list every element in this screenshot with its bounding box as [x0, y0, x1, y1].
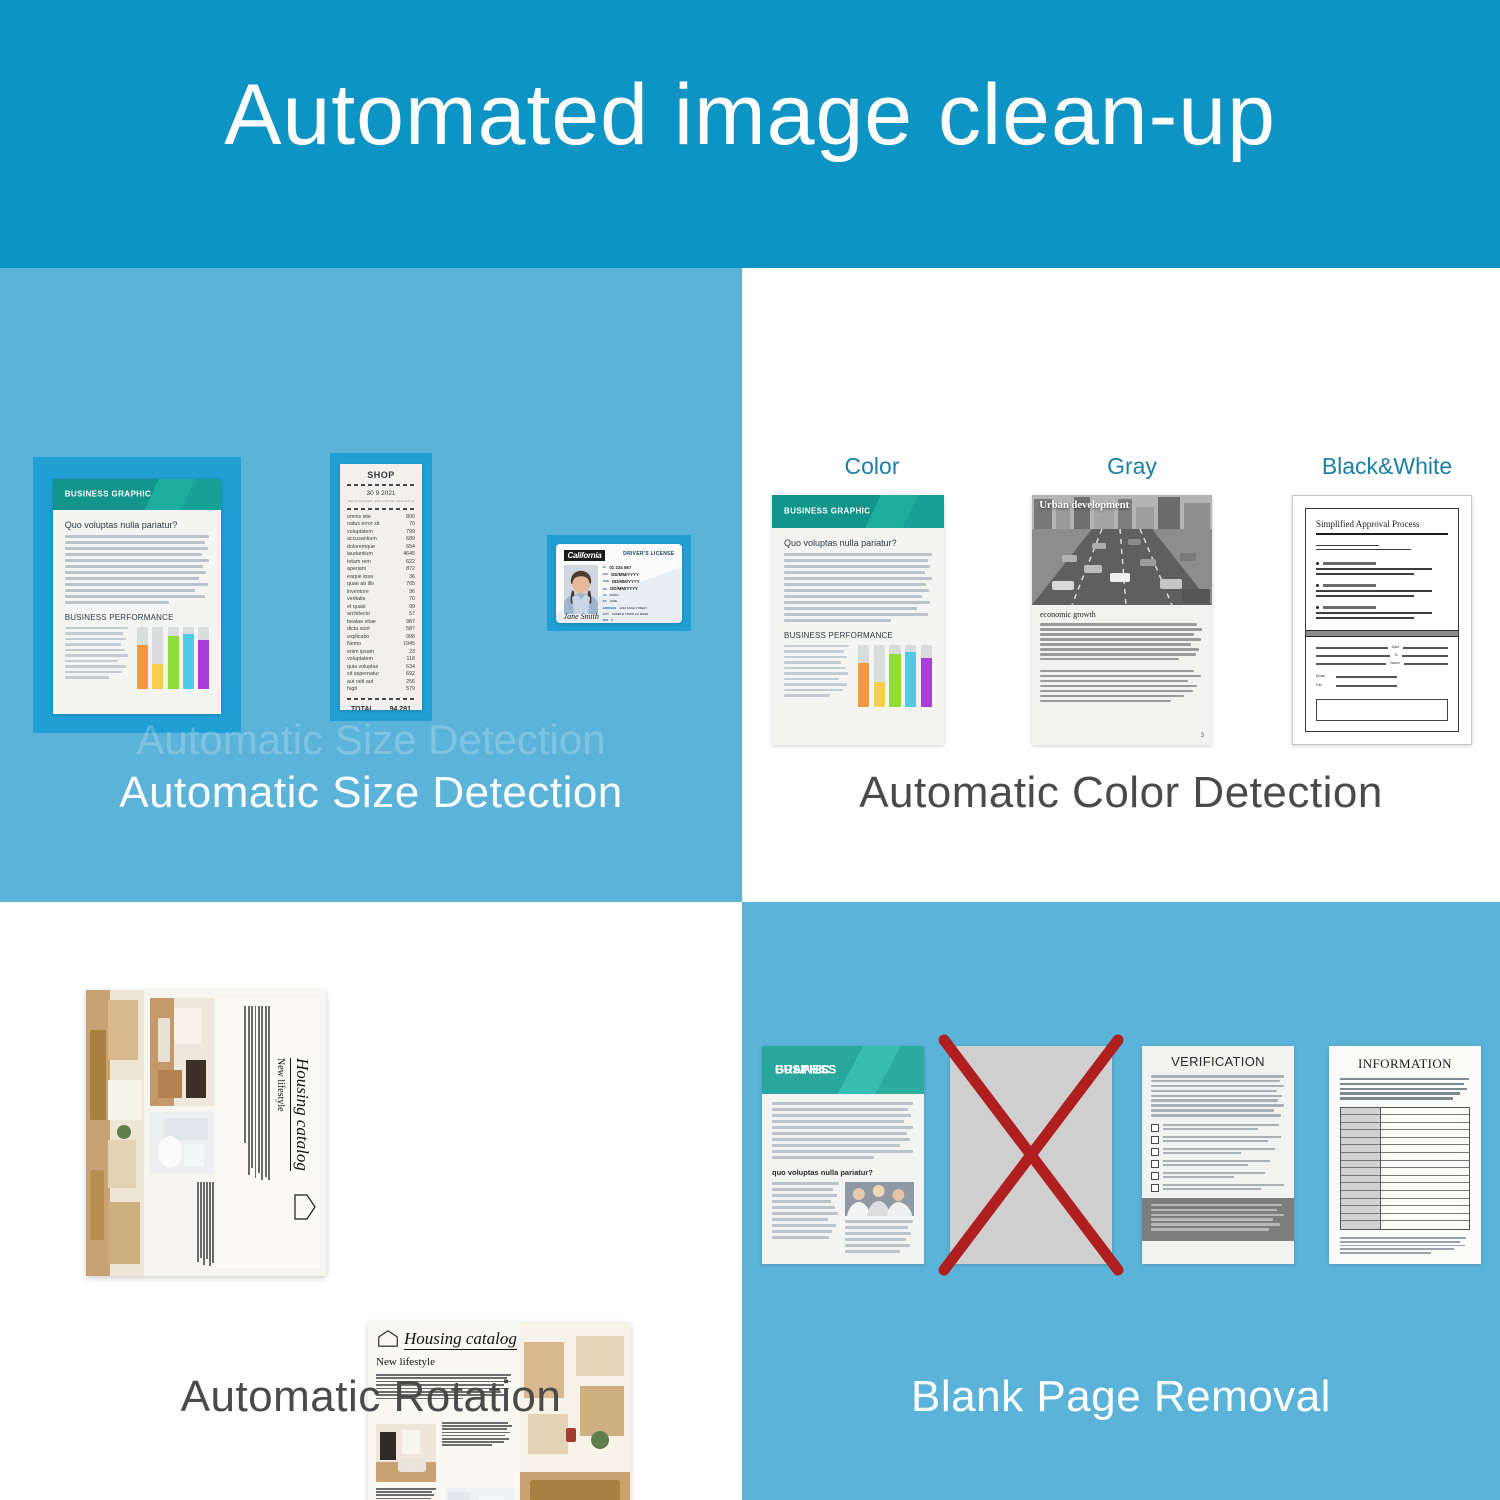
chart-bar — [183, 627, 194, 689]
verification-checkbox-label — [1163, 1124, 1285, 1132]
magazine-subtitle: New lifestyle — [376, 1356, 435, 1368]
receipt-item-name: beatae vitae — [347, 619, 376, 627]
business-graphic-header: BUSINESS GRAPHIC — [53, 479, 221, 510]
receipt-item-value: 692 — [406, 671, 415, 679]
chart-bar — [889, 645, 900, 707]
bullet-dot-icon — [1316, 562, 1319, 565]
receipt-item-name: inventore — [347, 589, 369, 597]
chart-bar — [858, 645, 869, 707]
information-footer — [1340, 1237, 1470, 1254]
bw-form-bullet-label — [1323, 584, 1376, 587]
verification-checkbox-row[interactable] — [1151, 1184, 1285, 1192]
verification-rule — [1163, 1140, 1268, 1142]
information-body — [1340, 1078, 1470, 1100]
receipt-item-name: aut odit aut — [347, 679, 373, 687]
license-field-key: CITY — [603, 612, 609, 616]
color-sample-header: BUSINESS GRAPHIC — [772, 495, 944, 528]
verification-checkbox-row[interactable] — [1151, 1172, 1285, 1180]
receipt-item-name: dicta sunt — [347, 626, 370, 634]
table-row — [1341, 1176, 1380, 1184]
receipt-divider — [347, 484, 415, 486]
receipt-item-name: architecto — [347, 611, 370, 619]
receipt-item-value: 23 — [409, 649, 415, 657]
bw-form-field-label: Date — [1392, 645, 1400, 649]
chart-bar — [152, 627, 163, 689]
magazine-title-rotated: Housing catalog — [290, 1058, 312, 1171]
bw-form-bullet-group — [1316, 606, 1448, 619]
receipt-items: omnis iste800natus error sit70voluptatem… — [347, 514, 415, 694]
receipt-item-value: 799 — [406, 529, 415, 537]
receipt-item-row: voluptatem118 — [347, 656, 415, 664]
receipt-item-value: 118 — [407, 656, 415, 664]
receipt-item-name: aperiam — [347, 566, 366, 574]
biz4-photo — [845, 1182, 914, 1216]
receipt-item-name: totam rem — [347, 559, 371, 567]
receipt-item-name: Nemo — [347, 641, 361, 649]
verification-rule — [1163, 1124, 1279, 1126]
table-row — [1341, 1206, 1380, 1214]
business-performance-section — [65, 627, 210, 689]
quadrant-blank-page-removal: BUSINESS GRAPHIC quo voluptas nulla pari… — [742, 902, 1500, 1500]
license-field-key: ISS — [603, 587, 608, 591]
verification-rule — [1163, 1148, 1275, 1150]
license-signature: Jane Smith — [564, 612, 599, 621]
table-row — [1381, 1183, 1469, 1191]
table-row — [1381, 1199, 1469, 1207]
document-blackwhite-sample: Simplified Approval Process DateToName E… — [1292, 495, 1472, 745]
business-performance-heading: BUSINESS PERFORMANCE — [65, 613, 210, 622]
bw-form-contact-row[interactable]: Fax — [1316, 683, 1448, 687]
receipt-item-value: 36 — [409, 574, 415, 582]
receipt-shop-name: SHOP — [347, 470, 415, 480]
receipt-item-value: 70 — [409, 521, 415, 529]
table-row — [1341, 1145, 1380, 1153]
chart-bar — [905, 645, 916, 707]
verification-checkbox-row[interactable] — [1151, 1148, 1285, 1156]
verification-checkbox-label — [1163, 1172, 1285, 1180]
information-table-col-right — [1381, 1108, 1469, 1230]
receipt-item-value: 256 — [406, 679, 415, 687]
table-row — [1341, 1183, 1380, 1191]
receipt-item-name: veritatis — [347, 596, 365, 604]
magazine-column-1 — [442, 1422, 514, 1448]
chart-bar — [874, 645, 885, 707]
gray-sample-photo: Urban development — [1032, 495, 1212, 605]
biz4-column-1 — [772, 1182, 839, 1256]
caption-color-detection: Automatic Color Detection — [742, 768, 1500, 818]
receipt-item-value: 96 — [409, 589, 415, 597]
bw-form-comment-box[interactable] — [1316, 699, 1448, 721]
receipt-total-row: TOTAL 94,281 — [347, 704, 415, 710]
chart-bar — [168, 627, 179, 689]
receipt-subtitle: Sed ut perspiciatis, unde omnis iste nat… — [347, 499, 415, 504]
license-field-row: EXPDD/MM/YYYY — [603, 572, 676, 577]
bw-form-bullet-group — [1316, 584, 1448, 597]
quadrant-rotation: Housing catalog New lifestyle — [0, 902, 742, 1500]
license-field-value: 1234 FAKE STREET — [619, 606, 647, 610]
receipt-item-name: natus error sit — [347, 521, 379, 529]
information-table — [1340, 1107, 1470, 1231]
receipt-item-row: quae ab illo765 — [347, 581, 415, 589]
table-row — [1381, 1214, 1469, 1222]
color-sample-perf — [784, 645, 932, 707]
license-field-key: ADDRESS — [603, 606, 617, 610]
quadrant-size-detection: BUSINESS GRAPHIC Quo voluptas nulla pari… — [0, 268, 742, 902]
biz4-body: quo voluptas nulla pariatur? — [762, 1094, 924, 1264]
bw-form-field-rule — [1403, 647, 1448, 649]
bw-form-rule — [1316, 612, 1432, 614]
bw-form-bullet-group — [1316, 562, 1448, 575]
bw-form-field-rule — [1404, 663, 1448, 665]
document-business-graphic-4: BUSINESS GRAPHIC quo voluptas nulla pari… — [762, 1046, 924, 1264]
house-icon — [294, 1194, 316, 1220]
header-banner: Automated image clean-up — [0, 0, 1500, 268]
table-row — [1341, 1221, 1380, 1229]
bw-form-field-rule — [1316, 655, 1390, 657]
receipt-item-name: quia voluptas — [347, 664, 378, 672]
receipt-item-name: voluptatem — [347, 529, 373, 537]
checkbox-icon[interactable] — [1151, 1184, 1159, 1192]
receipt-item-row: inventore96 — [347, 589, 415, 597]
license-field-value: JANE — [609, 599, 617, 603]
table-row — [1381, 1138, 1469, 1146]
table-row — [1341, 1115, 1380, 1123]
receipt-item-name: sit aspernatur — [347, 671, 379, 679]
checkbox-icon[interactable] — [1151, 1160, 1159, 1168]
receipt-item-value: 1945 — [403, 641, 415, 649]
license-type-label: DRIVER'S LICENSE — [623, 551, 674, 557]
bw-form-field-rule — [1316, 647, 1388, 649]
receipt-item-row: eaque ipsa36 — [347, 574, 415, 582]
chart-bar — [198, 627, 209, 689]
quadrant-color-detection: Color Gray Black&White BUSINESS GRAPHIC … — [742, 268, 1500, 902]
verification-body — [1151, 1075, 1285, 1117]
receipt-item-row: aperiam872 — [347, 566, 415, 574]
license-state-label: California — [564, 550, 606, 561]
biz4-column-2 — [845, 1182, 914, 1256]
license-field-row: LNSMITH — [603, 593, 676, 597]
receipt-item-value: 765 — [406, 581, 415, 589]
receipt-item-value: 872 — [406, 566, 415, 574]
verification-rule — [1163, 1128, 1258, 1130]
license-photo — [564, 565, 598, 614]
document-magazine-rotated: Housing catalog New lifestyle — [86, 990, 326, 1276]
color-sample-heading: Quo voluptas nulla pariatur? — [784, 538, 932, 548]
receipt-item-name: quae ab illo — [347, 581, 374, 589]
bw-form-contact-label: Fax — [1316, 683, 1332, 687]
business-performance-chart — [137, 627, 209, 689]
bw-form-rule — [1316, 573, 1414, 575]
license-field-value: DD/MM/YYYY — [610, 586, 638, 591]
verification-rule — [1163, 1176, 1234, 1178]
table-row — [1341, 1130, 1380, 1138]
table-row — [1381, 1191, 1469, 1199]
table-row — [1341, 1108, 1380, 1116]
receipt-item-name: fugit — [347, 686, 357, 694]
table-row — [1341, 1191, 1380, 1199]
biz4-subheading: quo voluptas nulla pariatur? — [772, 1168, 914, 1177]
license-field-row: DL01 234 567 — [603, 565, 676, 570]
receipt-item-value: 99 — [409, 604, 415, 612]
verification-checkbox-row[interactable] — [1151, 1124, 1285, 1132]
document-information: INFORMATION — [1329, 1046, 1481, 1264]
receipt-item-name: omnis iste — [347, 514, 371, 522]
label-color: Color — [772, 453, 972, 480]
checkbox-icon[interactable] — [1151, 1124, 1159, 1132]
verification-rule — [1163, 1188, 1261, 1190]
bullet-dot-icon — [1316, 606, 1319, 609]
bw-form-fields: DateToName — [1316, 645, 1448, 669]
verification-title: VERIFICATION — [1151, 1054, 1285, 1069]
receipt-item-row: et quasi99 — [347, 604, 415, 612]
verification-rule — [1163, 1164, 1248, 1166]
receipt-item-value: 579 — [406, 686, 415, 694]
license-field-key: SEX — [603, 618, 609, 622]
license-field-row: FNJANE — [603, 599, 676, 603]
license-field-row: ADDRESS1234 FAKE STREET — [603, 606, 676, 610]
receipt-item-value: 622 — [406, 559, 415, 567]
document-gray-sample: Urban development economic growth — [1032, 495, 1212, 745]
magazine-title: Housing catalog — [404, 1329, 517, 1350]
verification-checkbox-row[interactable] — [1151, 1160, 1285, 1168]
receipt-item-row: veritatis70 — [347, 596, 415, 604]
bw-form-bullet — [1316, 584, 1448, 587]
bw-form-contact-row[interactable]: Email — [1316, 674, 1448, 678]
receipt-item-value: 689 — [406, 536, 415, 544]
caption-ghost-size-detection: Automatic Size Detection — [0, 716, 742, 764]
caption-rotation: Automatic Rotation — [0, 1372, 742, 1422]
color-sample-perf-text — [784, 645, 849, 707]
color-sample-chart — [858, 645, 932, 707]
receipt-item-value: 70 — [409, 596, 415, 604]
receipt-item-name: laudantium — [347, 551, 373, 559]
license-field-key: DOB — [603, 579, 609, 583]
receipt-item-value: 654 — [406, 544, 415, 552]
checkbox-icon[interactable] — [1151, 1148, 1159, 1156]
document-verification: VERIFICATION — [1142, 1046, 1294, 1264]
magazine-photo-interior-1 — [150, 998, 214, 1106]
business-graphic-header-label: BUSINESS GRAPHIC — [65, 490, 151, 499]
business-graphic-body: Quo voluptas nulla pariatur? BUSINESS PE… — [53, 510, 221, 689]
table-row — [1381, 1145, 1469, 1153]
bw-form-field-rule — [1402, 655, 1448, 657]
bw-form-band — [1306, 630, 1458, 636]
information-table-col-left — [1341, 1108, 1381, 1230]
bw-form-title-rule — [1316, 533, 1448, 535]
information-title: INFORMATION — [1340, 1056, 1470, 1072]
table-row — [1341, 1153, 1380, 1161]
receipt-item-row: aut odit aut256 — [347, 679, 415, 687]
receipt-item-row: fugit579 — [347, 686, 415, 694]
receipt-item-name: eaque ipsa — [347, 574, 373, 582]
checkbox-icon[interactable] — [1151, 1136, 1159, 1144]
license-field-value: F — [611, 618, 613, 622]
biz4-paragraph — [772, 1102, 914, 1159]
magazine-photo-living-room — [376, 1424, 436, 1482]
caption-size-detection: Automatic Size Detection — [0, 768, 742, 818]
license-field-row: DOBDD/MM/YYYY — [603, 579, 676, 584]
table-row — [1381, 1153, 1469, 1161]
bw-form-contact-label: Email — [1316, 674, 1332, 678]
receipt-item-name: doloremque — [347, 544, 375, 552]
gray-sample-page-number: 3 — [1201, 733, 1204, 739]
verification-rule — [1163, 1136, 1281, 1138]
chart-bar — [137, 627, 148, 689]
receipt-item-row: accusantium689 — [347, 536, 415, 544]
receipt-item-value: 634 — [406, 664, 415, 672]
receipt-item-name: enim ipsam — [347, 649, 374, 657]
business-graphic-heading: Quo voluptas nulla pariatur? — [65, 520, 210, 530]
receipt-item-row: Nemo1945 — [347, 641, 415, 649]
biz4-columns — [772, 1182, 914, 1256]
verification-checkbox-label — [1163, 1160, 1285, 1168]
receipt-item-value: 998 — [406, 634, 415, 642]
caption-blank-page-removal: Blank Page Removal — [742, 1372, 1500, 1422]
page-title: Automated image clean-up — [0, 72, 1500, 158]
license-field-row: CITYSAMPLE TOWN CA 90000 — [603, 612, 676, 616]
license-field-value: SMITH — [609, 593, 618, 597]
bw-form-field-row[interactable]: To — [1316, 653, 1448, 657]
bw-form-rule — [1316, 568, 1432, 570]
receipt-item-row: architecto57 — [347, 611, 415, 619]
receipt-item-value: 4645 — [403, 551, 415, 559]
verification-checkbox-label — [1163, 1136, 1285, 1144]
table-row — [1381, 1168, 1469, 1176]
verification-checkbox-label — [1163, 1184, 1285, 1192]
table-row — [1381, 1108, 1469, 1116]
receipt-item-value: 587 — [406, 626, 415, 634]
table-row — [1341, 1138, 1380, 1146]
bw-form-contacts: EmailFax — [1316, 669, 1448, 691]
receipt-divider — [347, 508, 415, 510]
receipt-item-value: 800 — [406, 514, 415, 522]
receipt-item-row: totam rem622 — [347, 559, 415, 567]
bw-form-bullet — [1316, 606, 1448, 609]
document-blank-page — [950, 1046, 1112, 1264]
magazine-body-rotated — [243, 1006, 270, 1182]
magazine-subtitle-rotated: New lifestyle — [275, 1058, 286, 1112]
color-sample-perf-heading: BUSINESS PERFORMANCE — [784, 631, 932, 640]
document-drivers-license: California DRIVER'S LICENSE Jane Smith D… — [556, 544, 682, 623]
verification-checkboxes — [1151, 1124, 1285, 1192]
bw-form-field-label: To — [1394, 653, 1398, 657]
magazine-body-columns-rotated — [150, 1182, 214, 1268]
checkbox-icon[interactable] — [1151, 1172, 1159, 1180]
bw-form-field-rule — [1316, 663, 1386, 665]
gray-sample-paragraph-1 — [1040, 623, 1204, 660]
bw-form-bullets — [1316, 553, 1448, 622]
verification-rule — [1163, 1184, 1284, 1186]
license-field-row: SEXF — [603, 618, 676, 622]
gray-sample-subheading: economic growth — [1040, 610, 1204, 619]
bw-form-contact-rule — [1336, 685, 1397, 687]
bullet-dot-icon — [1316, 584, 1319, 587]
verification-footer — [1142, 1198, 1294, 1241]
color-sample-header-label: BUSINESS GRAPHIC — [784, 507, 870, 516]
receipt-item-row: explicabo998 — [347, 634, 415, 642]
document-receipt: SHOP 30 9 2021 Sed ut perspiciatis, unde… — [340, 464, 422, 710]
table-row — [1381, 1176, 1469, 1184]
receipt-item-value: 987 — [406, 619, 415, 627]
verification-checkbox-label — [1163, 1148, 1285, 1156]
bw-form-bullet-label — [1323, 562, 1376, 565]
gray-sample-paragraph-2 — [1040, 670, 1204, 703]
business-performance-text — [65, 627, 129, 689]
table-row — [1381, 1161, 1469, 1169]
verification-checkbox-row[interactable] — [1151, 1136, 1285, 1144]
license-field-key: DL — [603, 565, 607, 569]
receipt-item-value: 57 — [409, 611, 415, 619]
table-row — [1381, 1123, 1469, 1131]
bw-form-field-label: Name — [1390, 661, 1400, 665]
receipt-item-name: et quasi — [347, 604, 366, 612]
license-field-value: DD/MM/YYYY — [612, 579, 640, 584]
receipt-item-row: beatae vitae987 — [347, 619, 415, 627]
table-row — [1341, 1161, 1380, 1169]
bw-form-rule — [1316, 595, 1414, 597]
table-row — [1381, 1115, 1469, 1123]
bw-form-title: Simplified Approval Process — [1316, 519, 1448, 529]
license-fields: DL01 234 567EXPDD/MM/YYYYDOBDD/MM/YYYYIS… — [603, 565, 676, 623]
house-icon — [378, 1330, 398, 1347]
bw-form-field-row[interactable]: Date — [1316, 645, 1448, 649]
table-row — [1381, 1206, 1469, 1214]
bw-form-rule — [1316, 617, 1414, 619]
receipt-item-name: explicabo — [347, 634, 369, 642]
license-field-row: ISSDD/MM/YYYY — [603, 586, 676, 591]
license-field-key: LN — [603, 593, 607, 597]
magazine-column-2 — [376, 1488, 438, 1500]
label-black-white: Black&White — [1282, 453, 1492, 480]
receipt-item-row: omnis iste800 — [347, 514, 415, 522]
infographic-page: Automated image clean-up BUSINESS GRAPHI… — [0, 0, 1500, 1500]
verification-rule — [1163, 1160, 1270, 1162]
bw-form-bullet-label — [1323, 606, 1376, 609]
receipt-total-value: 94,281 — [390, 706, 411, 710]
license-field-key: FN — [603, 599, 607, 603]
table-row — [1341, 1199, 1380, 1207]
bw-form-inner: Simplified Approval Process DateToName E… — [1305, 508, 1459, 732]
document-color-sample: BUSINESS GRAPHIC Quo voluptas nulla pari… — [772, 495, 944, 745]
license-field-value: DD/MM/YYYY — [611, 572, 639, 577]
verification-rule — [1163, 1152, 1241, 1154]
receipt-item-row: natus error sit70 — [347, 521, 415, 529]
receipt-item-name: voluptatem — [347, 656, 373, 664]
table-row — [1341, 1168, 1380, 1176]
receipt-item-row: enim ipsam23 — [347, 649, 415, 657]
receipt-total-label: TOTAL — [351, 706, 374, 710]
license-field-value: 01 234 567 — [609, 565, 631, 570]
red-x-icon — [950, 1046, 1112, 1264]
magazine-photo-main-rotated — [86, 990, 144, 1276]
receipt-item-row: doloremque654 — [347, 544, 415, 552]
color-sample-bodytext — [784, 553, 932, 622]
bw-form-field-row[interactable]: Name — [1316, 661, 1448, 665]
receipt-divider — [347, 698, 415, 700]
chart-bar — [921, 645, 932, 707]
receipt-date: 30 9 2021 — [347, 490, 415, 497]
receipt-item-row: dicta sunt587 — [347, 626, 415, 634]
receipt-item-name: accusantium — [347, 536, 377, 544]
color-sample-body: Quo voluptas nulla pariatur? BUSINESS PE… — [772, 528, 944, 707]
receipt-item-row: voluptatem799 — [347, 529, 415, 537]
receipt-item-row: sit aspernatur692 — [347, 671, 415, 679]
gray-sample-body: economic growth — [1032, 605, 1212, 710]
bw-form-rule — [1316, 590, 1432, 592]
label-gray: Gray — [1032, 453, 1232, 480]
biz4-header-line2: GRAPHIC — [775, 1063, 830, 1076]
table-row — [1381, 1221, 1469, 1229]
